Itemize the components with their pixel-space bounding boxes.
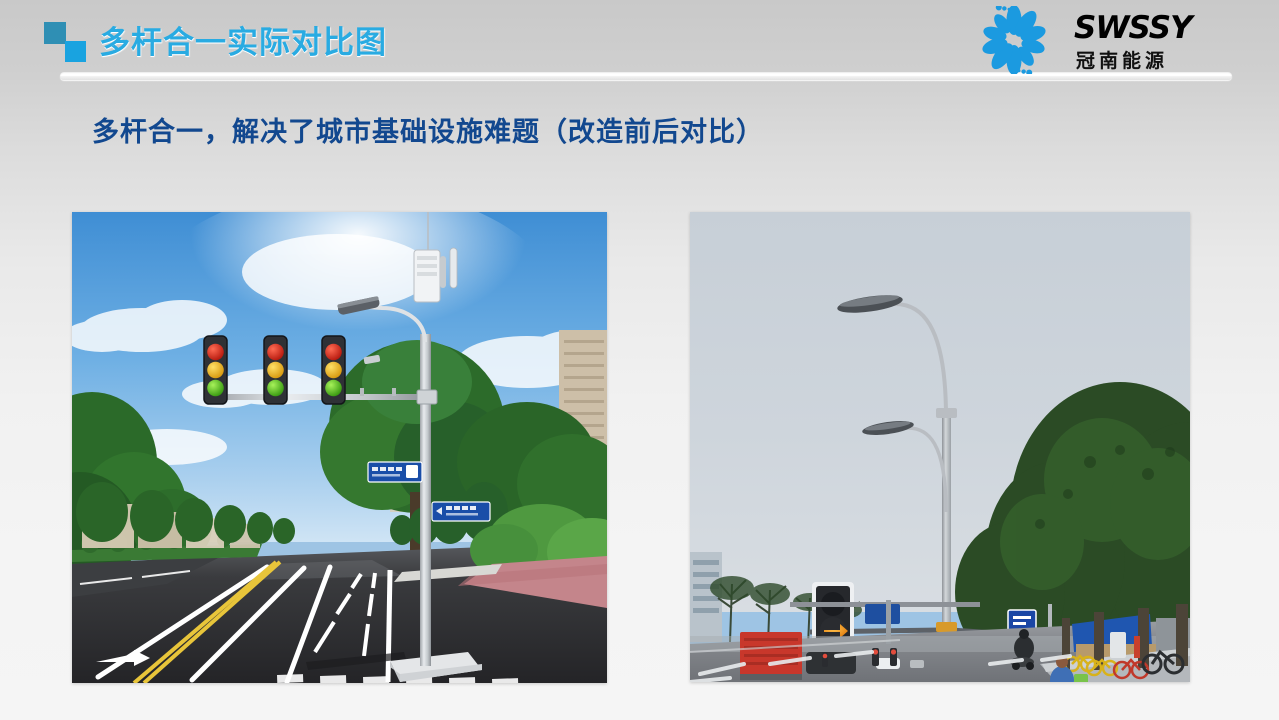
photo-render-before-after: [72, 212, 607, 683]
photo-real-before-after: [690, 212, 1190, 682]
title-square-light-icon: [65, 41, 86, 62]
flower-petals-icon: [962, 6, 1066, 74]
title-bullet-squares-icon: [44, 22, 90, 62]
slide-subtitle: 多杆合一，解决了城市基础设施难题（改造前后对比）: [92, 110, 764, 149]
slide-header: 多杆合一实际对比图: [0, 0, 1279, 88]
page-title: 多杆合一实际对比图: [99, 17, 387, 62]
logo-wordmark: SWSSY: [1074, 10, 1192, 46]
logo-chinese-name: 冠南能源: [1076, 46, 1168, 73]
title-square-dark-icon: [44, 22, 66, 44]
company-logo: SWSSY 冠南能源: [962, 4, 1222, 76]
